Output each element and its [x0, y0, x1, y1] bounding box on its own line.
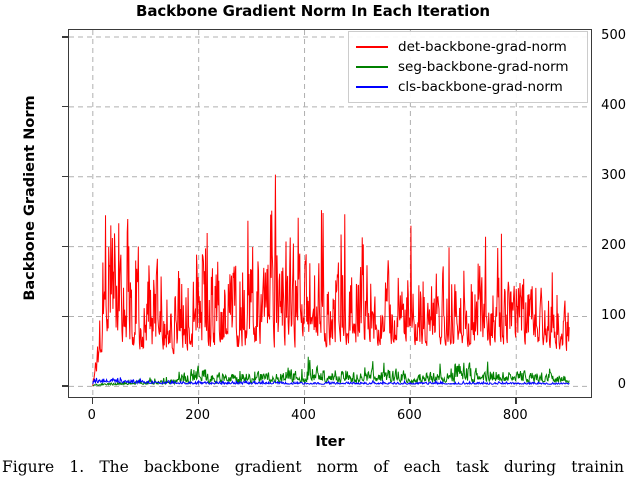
x-tick-mark — [515, 398, 517, 404]
x-tick-label: 400 — [274, 408, 334, 423]
figure-container: Backbone Gradient Norm In Each Iteration… — [0, 0, 626, 486]
x-tick-mark — [198, 398, 200, 404]
legend-label: seg-backbone-grad-norm — [398, 59, 569, 75]
x-tick-mark — [304, 398, 306, 404]
legend-label: det-backbone-grad-norm — [398, 39, 567, 55]
x-tick-label: 600 — [379, 408, 439, 423]
legend-item[interactable]: seg-backbone-grad-norm — [356, 57, 580, 77]
x-axis-label: Iter — [68, 434, 592, 450]
y-axis-label: Backbone Gradient Norm — [22, 83, 38, 313]
legend-color-swatch — [356, 46, 388, 48]
legend-color-swatch — [356, 66, 388, 68]
x-tick-label: 800 — [485, 408, 545, 423]
x-tick-mark — [409, 398, 411, 404]
x-tick-label: 0 — [62, 408, 122, 423]
figure-caption: Figure 1. The backbone gradient norm of … — [0, 458, 626, 476]
legend-item[interactable]: det-backbone-grad-norm — [356, 37, 580, 57]
chart-legend: det-backbone-grad-normseg-backbone-grad-… — [348, 31, 588, 103]
legend-label: cls-backbone-grad-norm — [398, 79, 563, 95]
legend-item[interactable]: cls-backbone-grad-norm — [356, 77, 580, 97]
x-tick-mark — [92, 398, 94, 404]
x-tick-label: 200 — [168, 408, 228, 423]
legend-color-swatch — [356, 86, 388, 88]
